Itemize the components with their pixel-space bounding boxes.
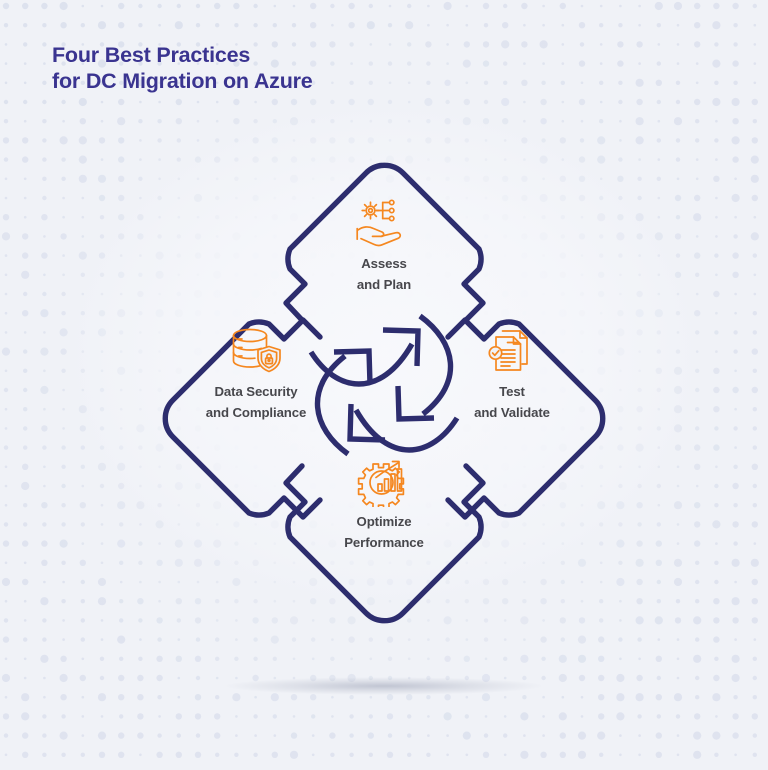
- node-label-data-security-and-compliance: Data Security and Compliance: [206, 381, 306, 423]
- node-label-assess-and-plan: Assess and Plan: [357, 253, 411, 295]
- node-label-assess-and-plan-line-1: Assess: [357, 253, 411, 274]
- database-shield-lock-icon: [227, 326, 285, 376]
- arrow-bottom-to-left: [317, 356, 348, 454]
- node-label-data-security-and-compliance-line-1: Data Security: [206, 381, 306, 402]
- diagram-drop-shadow: [224, 677, 544, 695]
- node-label-optimize-performance: Optimize Performance: [344, 511, 424, 553]
- arrow-top-to-right: [420, 316, 451, 414]
- node-label-optimize-performance-line-2: Performance: [344, 532, 424, 553]
- node-label-data-security-and-compliance-line-2: and Compliance: [206, 402, 306, 423]
- title-decorative-rules: [253, 72, 713, 86]
- gear-bar-chart-icon: [356, 455, 412, 507]
- arrow-right-to-bottom: [356, 410, 457, 450]
- document-check-icon: [488, 326, 536, 376]
- node-label-optimize-performance-line-1: Optimize: [344, 511, 424, 532]
- node-label-test-and-validate-line-1: Test: [474, 381, 550, 402]
- page-title-line-1: Four Best Practices: [52, 42, 313, 68]
- page-header: Four Best Practices for DC Migration on …: [52, 42, 313, 94]
- arrow-right-to-bottom-head: [350, 404, 385, 440]
- node-label-test-and-validate: Test and Validate: [474, 381, 550, 423]
- node-label-test-and-validate-line-2: and Validate: [474, 402, 550, 423]
- infographic-page: Four Best Practices for DC Migration on …: [0, 0, 768, 770]
- node-label-assess-and-plan-line-2: and Plan: [357, 274, 411, 295]
- hand-gear-network-icon: [355, 197, 413, 247]
- cycle-diagram: [0, 0, 768, 770]
- arrow-top-to-right-head: [398, 386, 434, 419]
